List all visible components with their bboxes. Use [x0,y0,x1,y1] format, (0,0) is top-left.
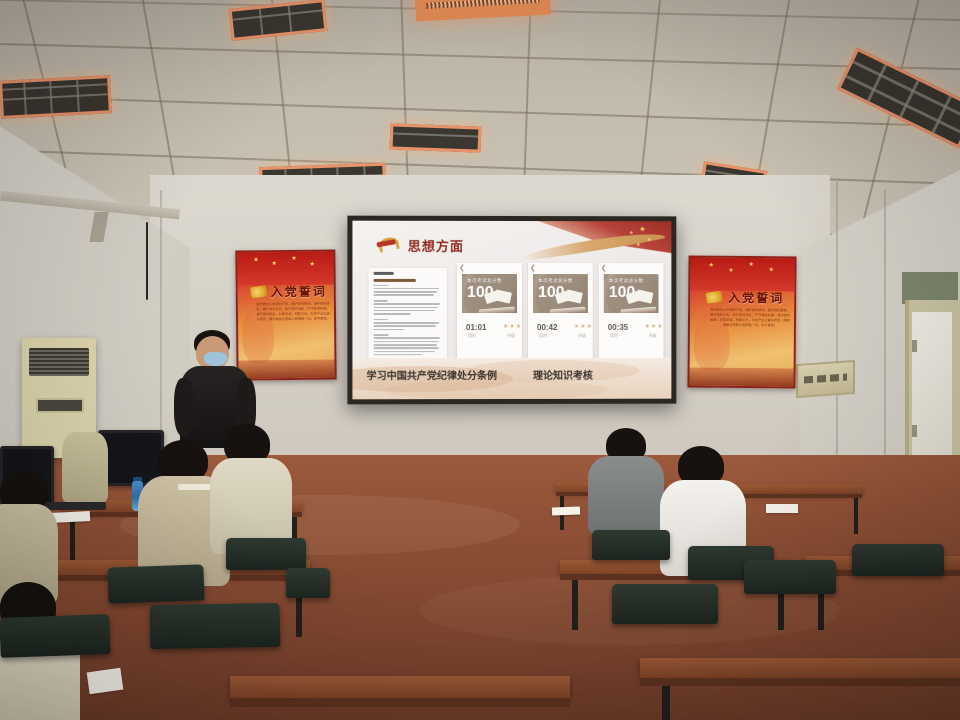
poster-party-oath-right: ★ ★ ★ ★ 入党誓词 我志愿加入中国共产党，拥护党的纲领，遵守党的章程，履行… [687,256,796,389]
ac-grille [29,348,89,376]
ac-control-panel[interactable] [36,398,84,413]
desk [230,676,570,698]
arm [174,378,194,436]
chair [0,614,111,658]
elapsed-time-caption: 用时 [468,333,476,339]
elapsed-time-caption: 用时 [539,333,547,339]
door-hinge [912,425,917,437]
slide-header: ★ ★ ★ ★ 思想方面 [352,221,671,262]
caption-left: 学习中国共产党纪律处分条例 [367,367,497,382]
elapsed-time: 01:01 [466,323,486,332]
elapsed-time: 00:35 [608,323,628,332]
score-card-header: 本次考试总分数 100分 [604,274,659,313]
wall-seam [836,182,838,482]
rating-caption: 评级 [649,333,657,339]
slide-title: 思想方面 [408,236,464,255]
chair [852,544,944,576]
wall-seam [884,190,886,480]
rating-caption: 评级 [578,333,586,339]
chair [592,530,670,560]
poster-title: 入党誓词 [271,283,327,301]
torso [588,456,664,534]
chair [612,584,718,624]
projected-slide: ★ ★ ★ ★ 思想方面 [352,221,671,400]
slide-footer: 学习中国共产党纪律处分条例 理论知识考核 [352,358,671,399]
desk-edge [640,678,960,686]
lanyard [178,484,214,490]
ceiling-light-fixture [390,123,482,152]
desk-leg [662,686,670,720]
poster-body: 我志愿加入中国共产党，拥护党的纲领，遵守党的章程，履行党员义务，执行党的决定，严… [710,308,790,329]
caption-right: 理论知识考核 [533,367,593,382]
book-illustration [621,290,657,313]
chair [286,568,330,598]
score-card-header: 本次考试总分数 100分 [533,274,588,313]
desk-leg [572,580,578,630]
poster-title: 入党誓词 [728,289,784,306]
desk-edge [230,698,570,707]
poster-body: 我志愿加入中国共产党，拥护党的纲领，遵守党的章程，履行党员义务，执行党的决定，严… [256,302,330,323]
elapsed-time-caption: 用时 [610,333,618,339]
book-illustration [550,290,586,313]
desk-leg [70,517,75,561]
poster-party-oath-left: ★ ★ ★ ★ 入党誓词 我志愿加入中国共产党，拥护党的纲领，遵守党的章程，履行… [235,249,336,380]
door-hinge [912,340,917,352]
chevron-left-icon[interactable]: ❮ [601,264,607,272]
projection-screen-frame: ★ ★ ★ ★ 思想方面 [347,216,676,405]
hanging-cable [146,222,148,300]
book-illustration [479,290,515,313]
classroom-photo: ★ ★ ★ ★ 入党誓词 我志愿加入中国共产党，拥护党的纲领，遵守党的章程，履行… [0,0,960,720]
chair [744,560,836,594]
desk-leg [854,498,858,534]
paper-sheet [552,507,580,516]
chevron-left-icon[interactable]: ❮ [530,264,536,272]
chevron-left-icon[interactable]: ❮ [459,264,465,272]
rating-stars: ★★★ [574,323,593,330]
ceiling-light-fixture [0,75,112,119]
paper-sheet [766,504,798,513]
ccp-emblem-icon [375,237,399,254]
ceiling-light-fixture [837,48,960,149]
rating-stars: ★★★ [645,323,664,330]
chair [107,564,204,603]
chair [150,603,281,649]
chair [226,538,306,570]
ceiling-light-fixture [229,0,328,41]
rating-stars: ★★★ [503,323,522,330]
paper-sheet [87,668,124,695]
score-card-header: 本次考试总分数 100分 [462,274,517,313]
torso [62,432,108,502]
rating-caption: 评级 [507,333,515,339]
desk [640,658,960,678]
elapsed-time: 00:42 [537,323,557,332]
wall-sign [796,360,855,398]
face-mask [204,352,227,366]
